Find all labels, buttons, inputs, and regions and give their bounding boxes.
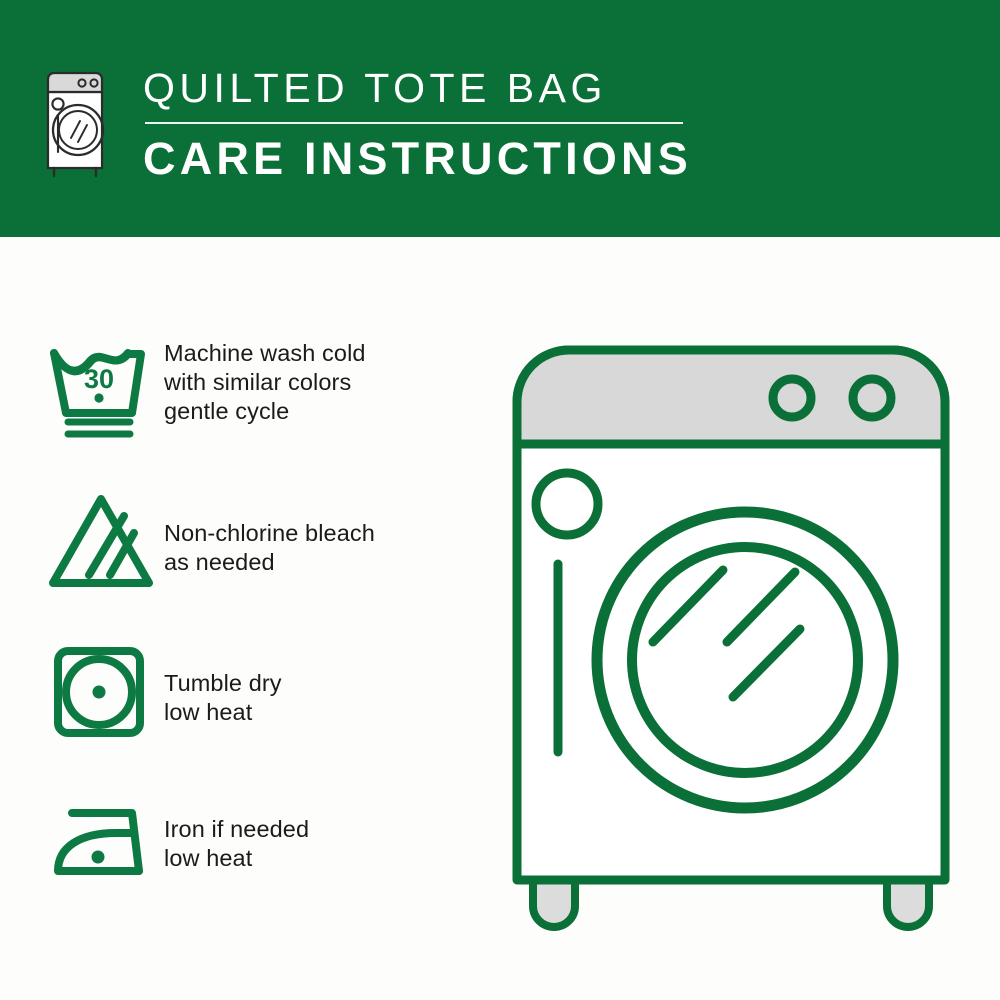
- care-label-line: Machine wash cold: [164, 339, 486, 368]
- care-label-line: Tumble dry: [164, 669, 486, 698]
- front-load-washing-machine-illustration: [495, 332, 965, 932]
- title-divider: [145, 122, 683, 124]
- care-label-line: Iron if needed: [164, 815, 486, 844]
- tumble-dry-low-icon: [46, 637, 164, 741]
- care-label-line: gentle cycle: [164, 397, 486, 426]
- care-label-line: as needed: [164, 548, 486, 577]
- care-label: Tumble dry low heat: [164, 637, 486, 727]
- care-label: Machine wash cold with similar colors ge…: [164, 337, 486, 426]
- wash-tub-30-icon: 30: [46, 337, 164, 441]
- care-row: Non-chlorine bleach as needed: [46, 487, 486, 637]
- bleach-triangle-icon: [46, 487, 164, 591]
- care-row: 30 Machine wash cold with similar colors…: [46, 337, 486, 487]
- care-label-line: low heat: [164, 698, 486, 727]
- wash-temperature-value: 30: [84, 364, 114, 394]
- care-label-line: Non-chlorine bleach: [164, 519, 486, 548]
- page-subtitle: CARE INSTRUCTIONS: [143, 133, 703, 185]
- care-instruction-list: 30 Machine wash cold with similar colors…: [46, 337, 486, 937]
- page-title: QUILTED TOTE BAG: [143, 62, 703, 114]
- care-label: Iron if needed low heat: [164, 787, 486, 873]
- care-label-line: with similar colors: [164, 368, 486, 397]
- content-area: 30 Machine wash cold with similar colors…: [0, 237, 1000, 1000]
- care-row: Iron if needed low heat: [46, 787, 486, 937]
- header-banner: QUILTED TOTE BAG CARE INSTRUCTIONS: [0, 0, 1000, 237]
- header-text-block: QUILTED TOTE BAG CARE INSTRUCTIONS: [143, 62, 703, 185]
- iron-low-heat-icon: [46, 787, 164, 891]
- care-instructions-page: QUILTED TOTE BAG CARE INSTRUCTIONS: [0, 0, 1000, 1000]
- washing-machine-icon: [44, 68, 106, 180]
- care-label: Non-chlorine bleach as needed: [164, 487, 486, 577]
- care-row: Tumble dry low heat: [46, 637, 486, 787]
- care-label-line: low heat: [164, 844, 486, 873]
